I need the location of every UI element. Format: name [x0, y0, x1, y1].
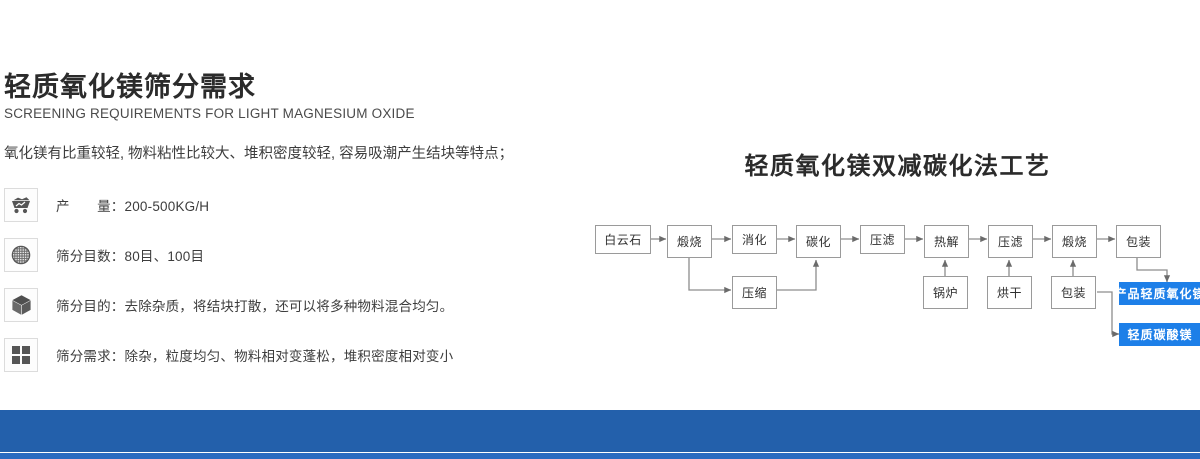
screening-requirements-section: 轻质氧化镁筛分需求 SCREENING REQUIREMENTS FOR LIG…	[4, 72, 624, 380]
list-item-label: 产 量：200-500KG/H	[56, 195, 209, 215]
flow-node-yalv-2[interactable]: 压滤	[988, 225, 1033, 258]
flowchart-canvas: 白云石 煅烧 消化 碳化 压滤 热解 压滤 煅烧 包装 压缩 锅炉 烘干 包装 …	[595, 220, 1200, 355]
cube-icon	[4, 288, 38, 322]
grid-icon	[4, 338, 38, 372]
list-item: 筛分目数：80目、100目	[4, 230, 624, 280]
flow-node-tanhua[interactable]: 碳化	[796, 225, 841, 258]
flow-node-yasuo[interactable]: 压缩	[732, 276, 777, 309]
process-flowchart-section: 轻质氧化镁双减碳化法工艺	[595, 140, 1200, 360]
flow-node-product-light-magnesium-oxide[interactable]: 产品轻质氧化镁	[1119, 282, 1200, 305]
flow-node-baozhuang-1[interactable]: 包装	[1116, 225, 1161, 258]
flowchart-title: 轻质氧化镁双减碳化法工艺	[595, 146, 1200, 181]
list-item-label: 筛分目的：去除杂质，将结块打散，还可以将多种物料混合均匀。	[56, 295, 453, 315]
list-item-label: 筛分需求：除杂，粒度均匀、物料相对变蓬松，堆积密度相对变小	[56, 345, 453, 365]
mine-cart-icon	[4, 188, 38, 222]
flow-node-light-magnesium-carbonate[interactable]: 轻质碳酸镁	[1119, 323, 1200, 346]
list-item-label: 筛分目数：80目、100目	[56, 245, 204, 265]
flow-node-yalv-1[interactable]: 压滤	[860, 225, 905, 254]
list-item: 筛分目的：去除杂质，将结块打散，还可以将多种物料混合均匀。	[4, 280, 624, 330]
footer-accent-strip	[0, 453, 1200, 459]
sieve-mesh-icon	[4, 238, 38, 272]
flow-node-baozhuang-2[interactable]: 包装	[1051, 276, 1096, 309]
list-item: 筛分需求：除杂，粒度均匀、物料相对变蓬松，堆积密度相对变小	[4, 330, 624, 380]
list-item: 产 量：200-500KG/H	[4, 180, 624, 230]
flow-node-guolu[interactable]: 锅炉	[923, 276, 968, 309]
intro-paragraph: 氧化镁有比重较轻, 物料粘性比较大、堆积密度较轻, 容易吸潮产生结块等特点；	[4, 144, 624, 164]
page-title: 轻质氧化镁筛分需求	[4, 72, 624, 103]
flow-node-honggan[interactable]: 烘干	[987, 276, 1032, 309]
flow-node-rejie[interactable]: 热解	[924, 225, 969, 258]
footer-bar	[0, 410, 1200, 452]
flow-node-duanshao-2[interactable]: 煅烧	[1052, 225, 1097, 258]
feature-list: 产 量：200-500KG/H 筛分目数：80目、100目	[4, 180, 624, 380]
flow-node-xiaohua[interactable]: 消化	[732, 225, 777, 254]
flow-node-duanshao-1[interactable]: 煅烧	[667, 225, 712, 258]
flow-node-baiyunshi[interactable]: 白云石	[595, 225, 651, 254]
page-subtitle-english: SCREENING REQUIREMENTS FOR LIGHT MAGNESI…	[4, 106, 624, 121]
